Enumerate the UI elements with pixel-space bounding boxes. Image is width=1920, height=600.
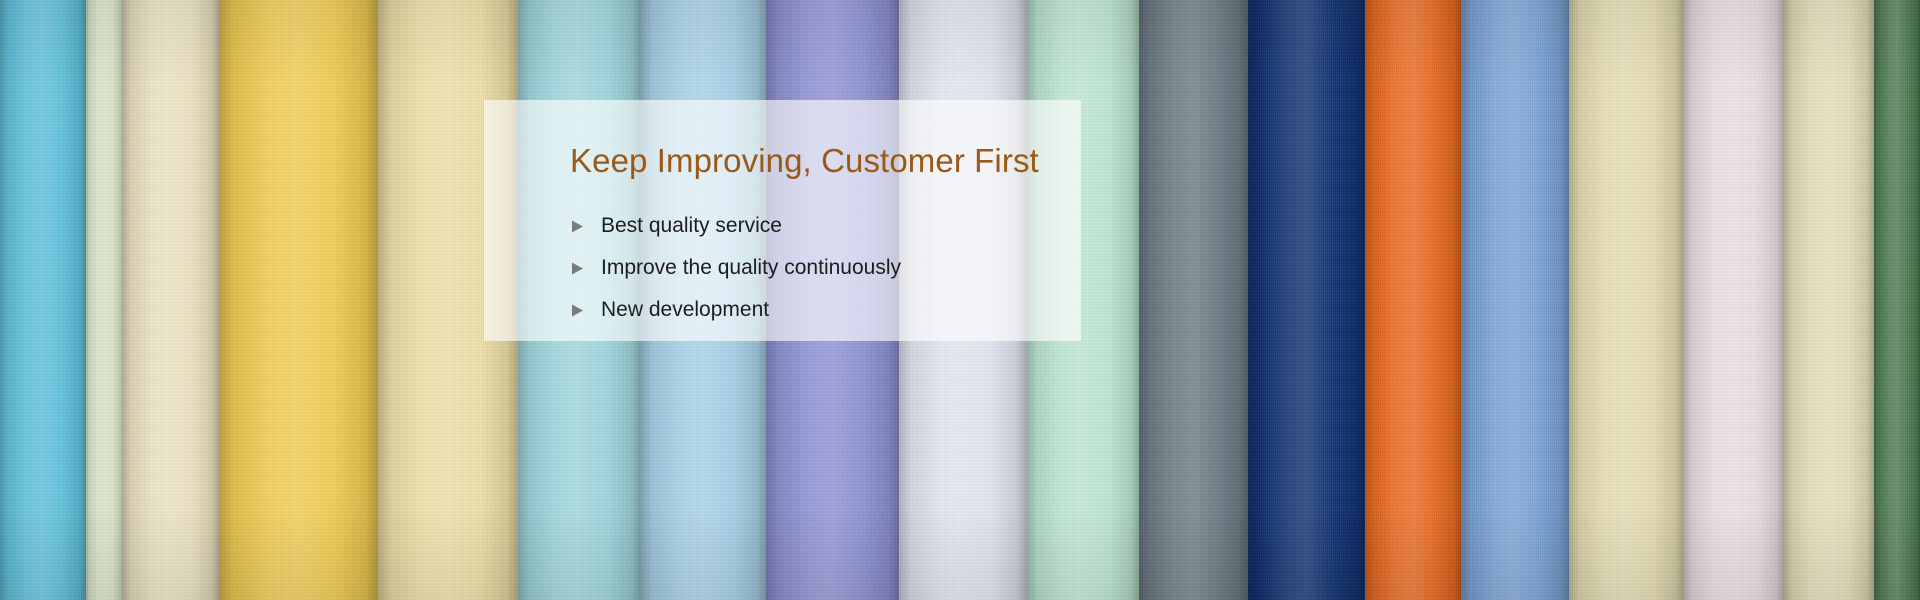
- roll-ivory: [123, 0, 219, 600]
- caption-overlay-panel: Keep Improving, Customer First Best qual…: [484, 100, 1081, 341]
- list-item: New development: [570, 289, 1040, 331]
- list-item-label: Best quality service: [601, 214, 782, 238]
- roll-orange: [1365, 0, 1461, 600]
- list-item: Best quality service: [570, 205, 1040, 247]
- list-item-label: Improve the quality continuously: [601, 256, 901, 280]
- roll-slate-gray: [1139, 0, 1248, 600]
- triangle-right-icon: [570, 261, 585, 276]
- roll-mint-cream: [86, 0, 124, 600]
- roll-golden-yellow: [219, 0, 378, 600]
- triangle-right-icon: [570, 219, 585, 234]
- list-item: Improve the quality continuously: [570, 247, 1040, 289]
- caption-title: Keep Improving, Customer First: [570, 142, 1039, 180]
- roll-blush-white: [1684, 0, 1784, 600]
- roll-wheat: [1784, 0, 1874, 600]
- fabric-promo-banner: Keep Improving, Customer First Best qual…: [0, 0, 1920, 600]
- roll-navy: [1248, 0, 1365, 600]
- roll-cream: [1569, 0, 1684, 600]
- triangle-right-icon: [570, 303, 585, 318]
- list-item-label: New development: [601, 298, 769, 322]
- roll-sky-blue: [0, 0, 86, 600]
- roll-cornflower: [1461, 0, 1570, 600]
- caption-feature-list: Best quality service Improve the quality…: [570, 205, 1040, 331]
- roll-forest-green: [1874, 0, 1920, 600]
